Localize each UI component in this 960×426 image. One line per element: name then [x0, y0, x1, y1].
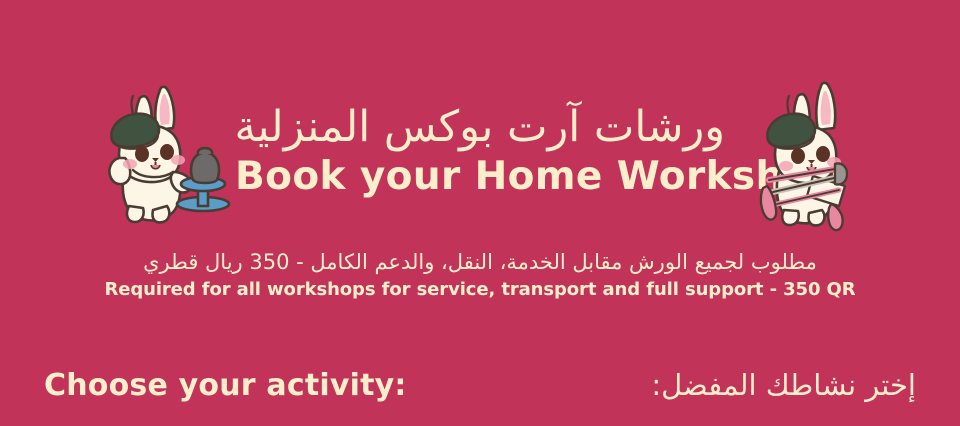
choose-activity-row: Choose your activity: إختر نشاطك المفضل:	[0, 360, 960, 410]
bunny-potter-icon	[81, 72, 231, 232]
title-english: Book your Home Workshop	[235, 155, 725, 200]
title-arabic: ورشات آرت بوكس المنزلية	[235, 104, 725, 150]
bunny-painter-icon	[729, 72, 879, 232]
workshop-banner: ورشات آرت بوكس المنزلية Book your Home W…	[0, 0, 960, 426]
price-note: مطلوب لجميع الورش مقابل الخدمة، النقل، و…	[0, 248, 960, 303]
choose-activity-arabic: إختر نشاطك المفضل:	[651, 368, 916, 402]
choose-activity-english: Choose your activity:	[44, 368, 407, 403]
price-note-english: Required for all workshops for service, …	[0, 278, 960, 302]
banner-header: ورشات آرت بوكس المنزلية Book your Home W…	[0, 72, 960, 232]
price-note-arabic: مطلوب لجميع الورش مقابل الخدمة، النقل، و…	[0, 248, 960, 276]
banner-titles: ورشات آرت بوكس المنزلية Book your Home W…	[231, 104, 729, 199]
